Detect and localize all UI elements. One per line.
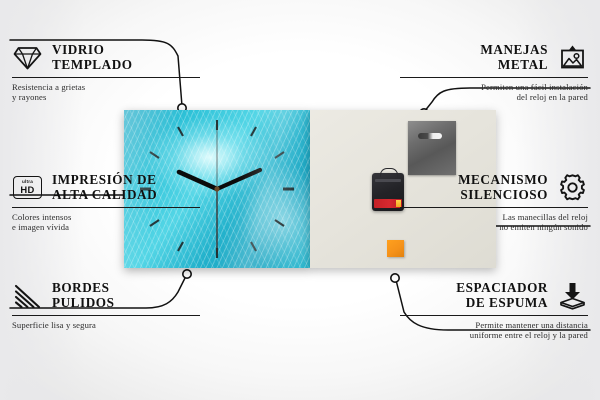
feature-desc-line2: no emiten ningún sonido: [400, 222, 588, 232]
feature-title-line1: ESPACIADOR: [456, 281, 548, 296]
feature-title-line1: MANEJAS: [480, 43, 548, 58]
feature-title-line2: SILENCIOSO: [458, 188, 548, 203]
foam-spacer-arrow-icon: [557, 280, 588, 311]
infographic-canvas: VIDRIO TEMPLADO Resistencia a grietas y …: [0, 0, 600, 400]
feature-desc-line1: Resistencia a grietas: [12, 82, 200, 92]
feature-title-line1: BORDES: [52, 281, 114, 296]
feature-bordes-pulidos: BORDES PULIDOS Superficie lisa y segura: [12, 280, 200, 330]
feature-vidrio-templado: VIDRIO TEMPLADO Resistencia a grietas y …: [12, 42, 200, 102]
feature-desc-line2: del reloj en la pared: [400, 92, 588, 102]
feature-title-line1: MECANISMO: [458, 173, 548, 188]
feature-title-line2: TEMPLADO: [52, 58, 133, 73]
ultra-hd-icon: ultra HD: [12, 172, 43, 203]
metal-hanger-plate: [408, 121, 456, 175]
picture-frame-hanger-icon: [557, 42, 588, 73]
feature-desc-line1: Permiten una fácil instalación: [400, 82, 588, 92]
mechanism-stripe: [375, 179, 401, 182]
feature-divider: [12, 315, 200, 316]
feature-impresion-alta-calidad: ultra HD IMPRESIÓN DE ALTA CALIDAD Color…: [12, 172, 200, 232]
feature-mecanismo-silencioso: MECANISMO SILENCIOSO Las manecillas del …: [400, 172, 588, 232]
feature-desc-line1: Colores intensos: [12, 212, 200, 222]
feature-desc-line1: Permite mantener una distancia: [400, 320, 588, 330]
feature-desc-line2: e imagen vívida: [12, 222, 200, 232]
gear-icon: [557, 172, 588, 203]
feature-divider: [400, 315, 588, 316]
feature-espaciador-de-espuma: ESPACIADOR DE ESPUMA Permite mantener un…: [400, 280, 588, 340]
callout-dot-bordes: [183, 270, 191, 278]
feature-title-line2: ALTA CALIDAD: [52, 188, 157, 203]
feature-title-line1: VIDRIO: [52, 43, 133, 58]
feature-divider: [400, 77, 588, 78]
mechanism-red-label: [374, 199, 402, 208]
feature-desc-line2: uniforme entre el reloj y la pared: [400, 330, 588, 340]
foam-spacer-pad: [387, 240, 404, 257]
feature-title-line1: IMPRESIÓN DE: [52, 173, 157, 188]
hanger-slot: [418, 133, 442, 139]
feature-title-line2: METAL: [480, 58, 548, 73]
mechanism-bail: [380, 168, 398, 177]
feature-desc-line1: Superficie lisa y segura: [12, 320, 200, 330]
feature-desc-line1: Las manecillas del reloj: [400, 212, 588, 222]
feature-divider: [12, 77, 200, 78]
feature-title-line2: DE ESPUMA: [456, 296, 548, 311]
feature-desc-line2: y rayones: [12, 92, 200, 102]
feature-manejas-metal: MANEJAS METAL Permiten una fácil instala…: [400, 42, 588, 102]
polished-edges-icon: [12, 280, 43, 311]
ultra-hd-icon-large-text: HD: [20, 185, 34, 195]
feature-divider: [400, 207, 588, 208]
callout-dot-espaciador: [391, 274, 399, 282]
feature-divider: [12, 207, 200, 208]
diamond-icon: [12, 42, 43, 73]
feature-title-line2: PULIDOS: [52, 296, 114, 311]
